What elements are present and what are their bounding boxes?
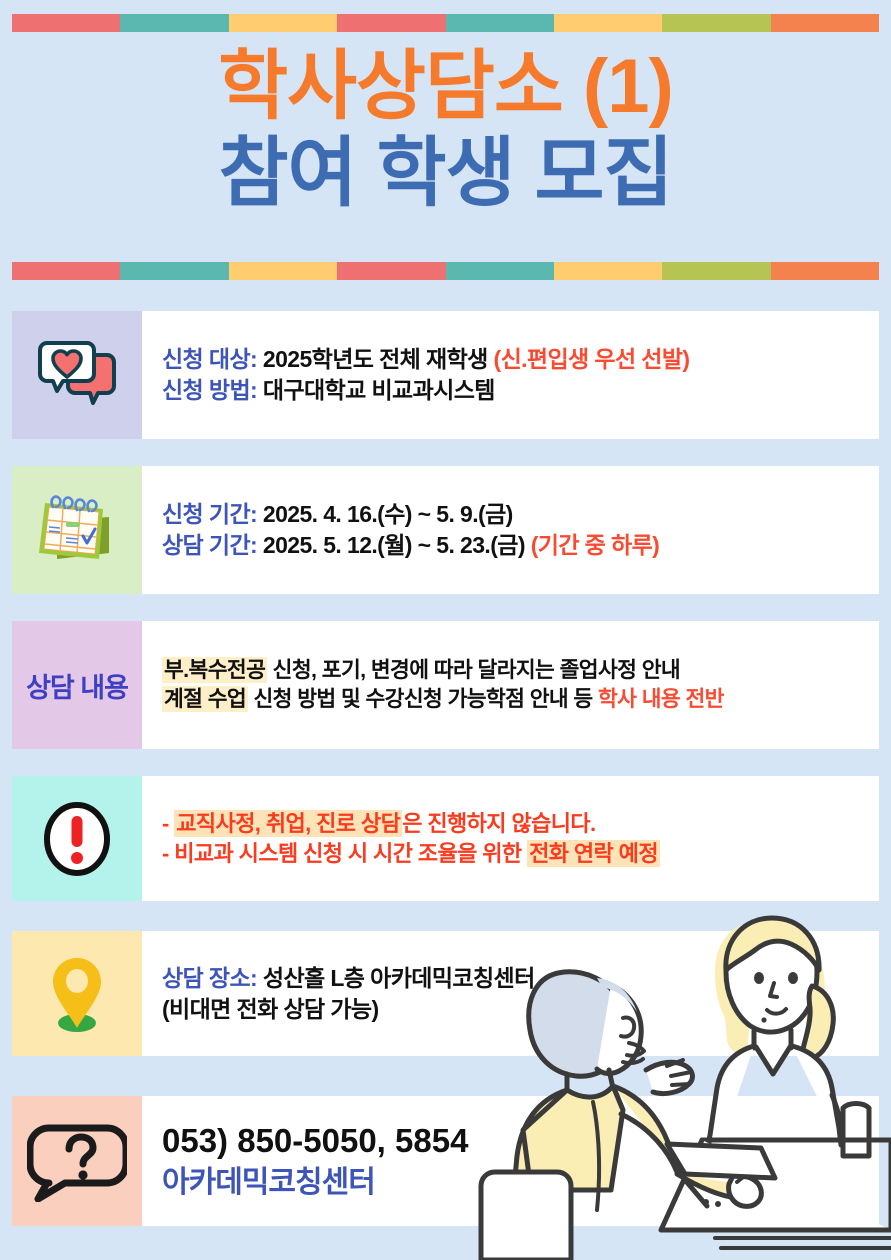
title-line-1: 학사상담소 (1)	[0, 44, 891, 131]
row-notice-line-2: - 비교과 시스템 신청 시 시간 조율을 위한 전화 연락 예정	[162, 839, 865, 868]
row-notice-line-1: - 교직사정, 취업, 진로 상담은 진행하지 않습니다.	[162, 809, 865, 838]
text-excluded-rest: 은 진행하지 않습니다.	[402, 811, 595, 836]
value-remote-note: (비대면 전화 상담 가능)	[162, 996, 379, 1022]
icon-cell-content: 상담 내용	[12, 621, 142, 749]
icon-cell-contact	[12, 1096, 142, 1226]
top-stripe-bar	[12, 14, 879, 32]
stripe-segment-1	[12, 14, 120, 32]
info-row-content: 상담 내용 부.복수전공 신청, 포기, 변경에 따라 달라지는 졸업사정 안내…	[12, 621, 879, 749]
row-body-notice: - 교직사정, 취업, 진로 상담은 진행하지 않습니다. - 비교과 시스템 …	[142, 776, 879, 901]
stripe-segment-4	[337, 262, 445, 280]
row-body-place: 상담 장소: 성산홀 L층 아카데믹코칭센터 (비대면 전화 상담 가능)	[142, 931, 879, 1056]
value-apply-method: 대구대학교 비교과시스템	[263, 377, 495, 403]
value-apply-target: 2025학년도 전체 재학생	[263, 346, 488, 372]
highlight-excluded-topics: 교직사정, 취업, 진로 상담	[174, 810, 402, 837]
stripe-segment-4	[337, 14, 445, 32]
row-content-line-1: 부.복수전공 신청, 포기, 변경에 따라 달라지는 졸업사정 안내	[162, 656, 865, 685]
dash-notice-2: -	[162, 841, 169, 866]
row-body-content: 부.복수전공 신청, 포기, 변경에 따라 달라지는 졸업사정 안내 계절 수업…	[142, 621, 879, 749]
label-apply-period: 신청 기간:	[162, 501, 257, 527]
label-counsel-content: 상담 내용	[26, 666, 128, 705]
info-row-period: 신청 기간: 2025. 4. 16.(수) ~ 5. 9.(금) 상담 기간:…	[12, 466, 879, 594]
accent-academic-overall: 학사 내용 전반	[598, 687, 724, 711]
label-apply-target: 신청 대상:	[162, 346, 257, 372]
stripe-segment-7	[662, 262, 770, 280]
highlight-phone-contact: 전화 연락 예정	[527, 840, 660, 867]
row-place-line-2: (비대면 전화 상담 가능)	[162, 994, 865, 1025]
stripe-segment-6	[554, 262, 662, 280]
stripe-segment-5	[446, 262, 554, 280]
phone-number[interactable]: 053) 850-5050, 5854	[162, 1120, 865, 1163]
row-body-contact: 053) 850-5050, 5854 아카데믹코칭센터	[142, 1096, 879, 1226]
stripe-segment-5	[446, 14, 554, 32]
stripe-segment-2	[120, 262, 228, 280]
poster-title: 학사상담소 (1) 참여 학생 모집	[0, 44, 891, 217]
row-period-line-2: 상담 기간: 2025. 5. 12.(월) ~ 5. 23.(금) (기간 중…	[162, 530, 865, 561]
icon-cell-notice	[12, 776, 142, 901]
info-row-notice: - 교직사정, 취업, 진로 상담은 진행하지 않습니다. - 비교과 시스템 …	[12, 776, 879, 901]
icon-cell-target	[12, 311, 142, 439]
icon-cell-place	[12, 931, 142, 1056]
stripe-segment-3	[229, 14, 337, 32]
stripe-segment-3	[229, 262, 337, 280]
text-double-major-rest: 신청, 포기, 변경에 따라 달라지는 졸업사정 안내	[267, 658, 680, 682]
chat-heart-icon	[35, 339, 119, 411]
info-row-place: 상담 장소: 성산홀 L층 아카데믹코칭센터 (비대면 전화 상담 가능)	[12, 931, 879, 1056]
stripe-segment-6	[554, 14, 662, 32]
highlight-seasonal-class: 계절 수업	[162, 686, 248, 712]
icon-cell-period	[12, 466, 142, 594]
poster-canvas: 학사상담소 (1) 참여 학생 모집 신청 대상: 2025학년도 전체 재학생…	[0, 0, 891, 1260]
label-counsel-period: 상담 기간:	[162, 532, 257, 558]
row-place-line-1: 상담 장소: 성산홀 L층 아카데믹코칭센터	[162, 963, 865, 994]
row-target-line-2: 신청 방법: 대구대학교 비교과시스템	[162, 375, 865, 406]
center-name: 아카데믹코칭센터	[162, 1163, 865, 1202]
title-line-2: 참여 학생 모집	[0, 131, 891, 218]
accent-apply-target: (신.편입생 우선 선발)	[494, 346, 690, 372]
dash-notice-1: -	[162, 811, 169, 836]
text-phone-pre: 비교과 시스템 신청 시 시간 조율을 위한	[174, 841, 527, 866]
label-apply-method: 신청 방법:	[162, 377, 257, 403]
value-apply-period: 2025. 4. 16.(수) ~ 5. 9.(금)	[263, 501, 513, 527]
value-counsel-place: 성산홀 L층 아카데믹코칭센터	[263, 965, 535, 991]
exclamation-circle-icon	[40, 799, 114, 879]
value-counsel-period: 2025. 5. 12.(월) ~ 5. 23.(금)	[263, 532, 525, 558]
question-bubble-icon	[27, 1120, 127, 1202]
highlight-double-major: 부.복수전공	[162, 657, 267, 683]
location-pin-icon	[42, 952, 112, 1036]
stripe-segment-7	[662, 14, 770, 32]
info-row-target: 신청 대상: 2025학년도 전체 재학생 (신.편입생 우선 선발) 신청 방…	[12, 311, 879, 439]
info-row-contact: 053) 850-5050, 5854 아카데믹코칭센터	[12, 1096, 879, 1226]
row-target-line-1: 신청 대상: 2025학년도 전체 재학생 (신.편입생 우선 선발)	[162, 344, 865, 375]
row-body-period: 신청 기간: 2025. 4. 16.(수) ~ 5. 9.(금) 상담 기간:…	[142, 466, 879, 594]
label-counsel-place: 상담 장소:	[162, 965, 257, 991]
stripe-segment-8	[771, 14, 879, 32]
stripe-segment-2	[120, 14, 228, 32]
row-body-target: 신청 대상: 2025학년도 전체 재학생 (신.편입생 우선 선발) 신청 방…	[142, 311, 879, 439]
stripe-segment-8	[771, 262, 879, 280]
row-period-line-1: 신청 기간: 2025. 4. 16.(수) ~ 5. 9.(금)	[162, 499, 865, 530]
accent-counsel-period: (기간 중 하루)	[531, 532, 660, 558]
text-seasonal-class-rest: 신청 방법 및 수강신청 가능학점 안내 등	[248, 687, 598, 711]
bottom-stripe-bar	[12, 262, 879, 280]
stripe-segment-1	[12, 262, 120, 280]
row-content-line-2: 계절 수업 신청 방법 및 수강신청 가능학점 안내 등 학사 내용 전반	[162, 685, 865, 714]
desk-calendar-icon	[29, 487, 125, 573]
